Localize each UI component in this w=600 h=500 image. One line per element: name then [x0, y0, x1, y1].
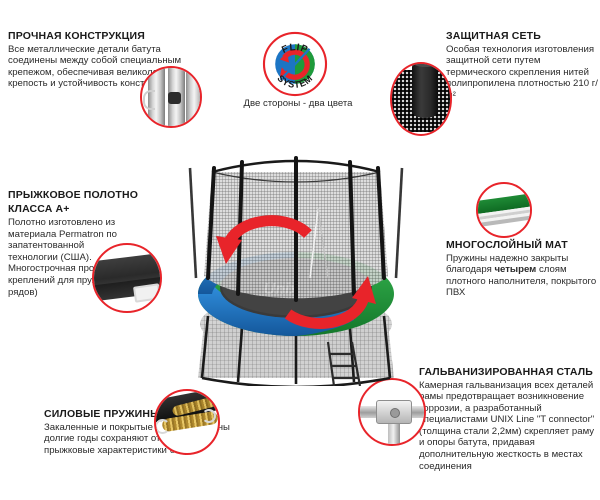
mat-stitching-icon — [92, 243, 162, 313]
flip-system-icon: FLIP SYSTEM — [262, 31, 328, 97]
t-connector-icon — [358, 378, 426, 446]
flip-system-badge: FLIP SYSTEM — [262, 31, 328, 97]
feature-steel-body: Камерная гальванизация всех деталей рамы… — [419, 380, 600, 473]
feature-multilayer: МНОГОСЛОЙНЫЙ МАТ Пружины надежно закрыты… — [446, 239, 600, 299]
feature-multilayer-heading: МНОГОСЛОЙНЫЙ МАТ — [446, 239, 600, 252]
feature-mat-heading-line2: КЛАССА А+ — [8, 203, 158, 216]
feature-steel: ГАЛЬВАНИЗИРОВАННАЯ СТАЛЬ Камерная гальва… — [419, 366, 600, 472]
bolt-joint-icon — [140, 66, 202, 128]
infographic-canvas: ПРОЧНАЯ КОНСТРУКЦИЯ Все металлические де… — [0, 0, 600, 500]
multilayer-body-emphasis: четырем — [494, 264, 536, 275]
feature-steel-heading: ГАЛЬВАНИЗИРОВАННАЯ СТАЛЬ — [419, 366, 600, 379]
feature-net: ЗАЩИТНАЯ СЕТЬ Особая технология изготовл… — [446, 30, 598, 101]
layered-pad-icon — [476, 182, 532, 238]
spring-icon — [154, 389, 220, 455]
feature-net-body: Особая технология изготовления защитной … — [446, 44, 598, 102]
feature-mat-heading-line1: ПРЫЖКОВОЕ ПОЛОТНО — [8, 189, 158, 202]
feature-construction-heading: ПРОЧНАЯ КОНСТРУКЦИЯ — [8, 30, 184, 43]
safety-net-icon — [390, 62, 452, 136]
trampoline-graphic: Unix line — [168, 128, 424, 386]
feature-multilayer-body: Пружины надежно закрыты благодаря четыре… — [446, 253, 600, 299]
flip-system-caption: Две стороны - два цвета — [228, 98, 368, 109]
feature-net-heading: ЗАЩИТНАЯ СЕТЬ — [446, 30, 598, 43]
trampoline-illustration: Unix line — [168, 128, 424, 386]
